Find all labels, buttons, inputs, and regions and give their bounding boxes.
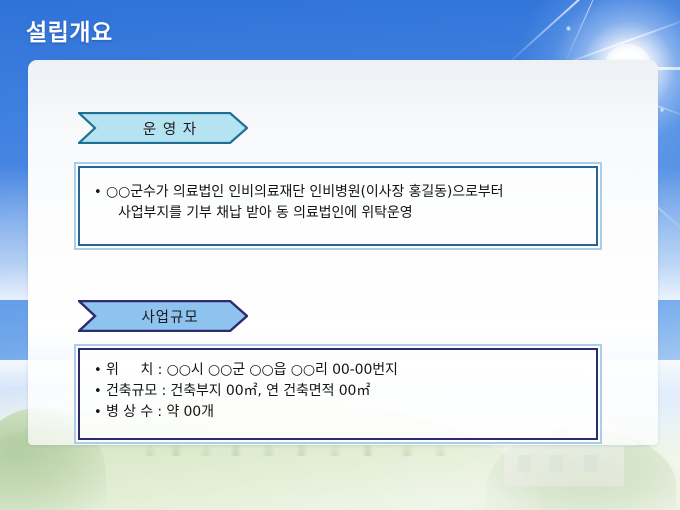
section-banner-label: 사업규모: [127, 306, 198, 327]
section-banner-scale: 사업규모: [78, 300, 248, 332]
list-item-text: 위 치 : ○○시 ○○군 ○○읍 ○○리 00-00번지: [106, 360, 398, 381]
textbox-scale-inner-frame: • 위 치 : ○○시 ○○군 ○○읍 ○○리 00-00번지 • 건축규모 :…: [78, 348, 598, 440]
list-item-text: ○○군수가 의료법인 인비의료재단 인비병원(이사장 홍길동)으로부터: [106, 182, 503, 203]
textbox-scale-content: • 위 치 : ○○시 ○○군 ○○읍 ○○리 00-00번지 • 건축규모 :…: [80, 350, 596, 423]
textbox-operator-content: • ○○군수가 의료법인 인비의료재단 인비병원(이사장 홍길동)으로부터 사업…: [80, 168, 596, 224]
list-item-text: 병 상 수 : 약 00개: [106, 402, 214, 423]
textbox-operator-inner-frame: • ○○군수가 의료법인 인비의료재단 인비병원(이사장 홍길동)으로부터 사업…: [78, 166, 598, 246]
bullet-marker: •: [94, 360, 106, 381]
slide-canvas: 설립개요 운 영 자 • ○○군수가 의료법인 인비의료재단 인비병원(이사장 …: [0, 0, 680, 510]
list-item: 사업부지를 기부 채납 받아 동 의료법인에 위탁운영: [94, 203, 596, 224]
textbox-operator: • ○○군수가 의료법인 인비의료재단 인비병원(이사장 홍길동)으로부터 사업…: [74, 162, 602, 250]
section-banner-operator: 운 영 자: [78, 112, 248, 144]
list-item-text: 건축규모 : 건축부지 00㎡, 연 건축면적 00㎡: [106, 381, 370, 402]
section-banner-label: 운 영 자: [129, 118, 197, 139]
list-item: • 위 치 : ○○시 ○○군 ○○읍 ○○리 00-00번지: [94, 360, 596, 381]
list-item: • 건축규모 : 건축부지 00㎡, 연 건축면적 00㎡: [94, 381, 596, 402]
bullet-marker: •: [94, 381, 106, 402]
list-item: • 병 상 수 : 약 00개: [94, 402, 596, 423]
page-title: 설립개요: [26, 13, 113, 47]
bullet-marker: •: [94, 182, 106, 203]
bullet-marker: •: [94, 402, 106, 423]
list-item-text: 사업부지를 기부 채납 받아 동 의료법인에 위탁운영: [118, 203, 412, 224]
textbox-scale: • 위 치 : ○○시 ○○군 ○○읍 ○○리 00-00번지 • 건축규모 :…: [74, 344, 602, 444]
list-item: • ○○군수가 의료법인 인비의료재단 인비병원(이사장 홍길동)으로부터: [94, 182, 596, 203]
